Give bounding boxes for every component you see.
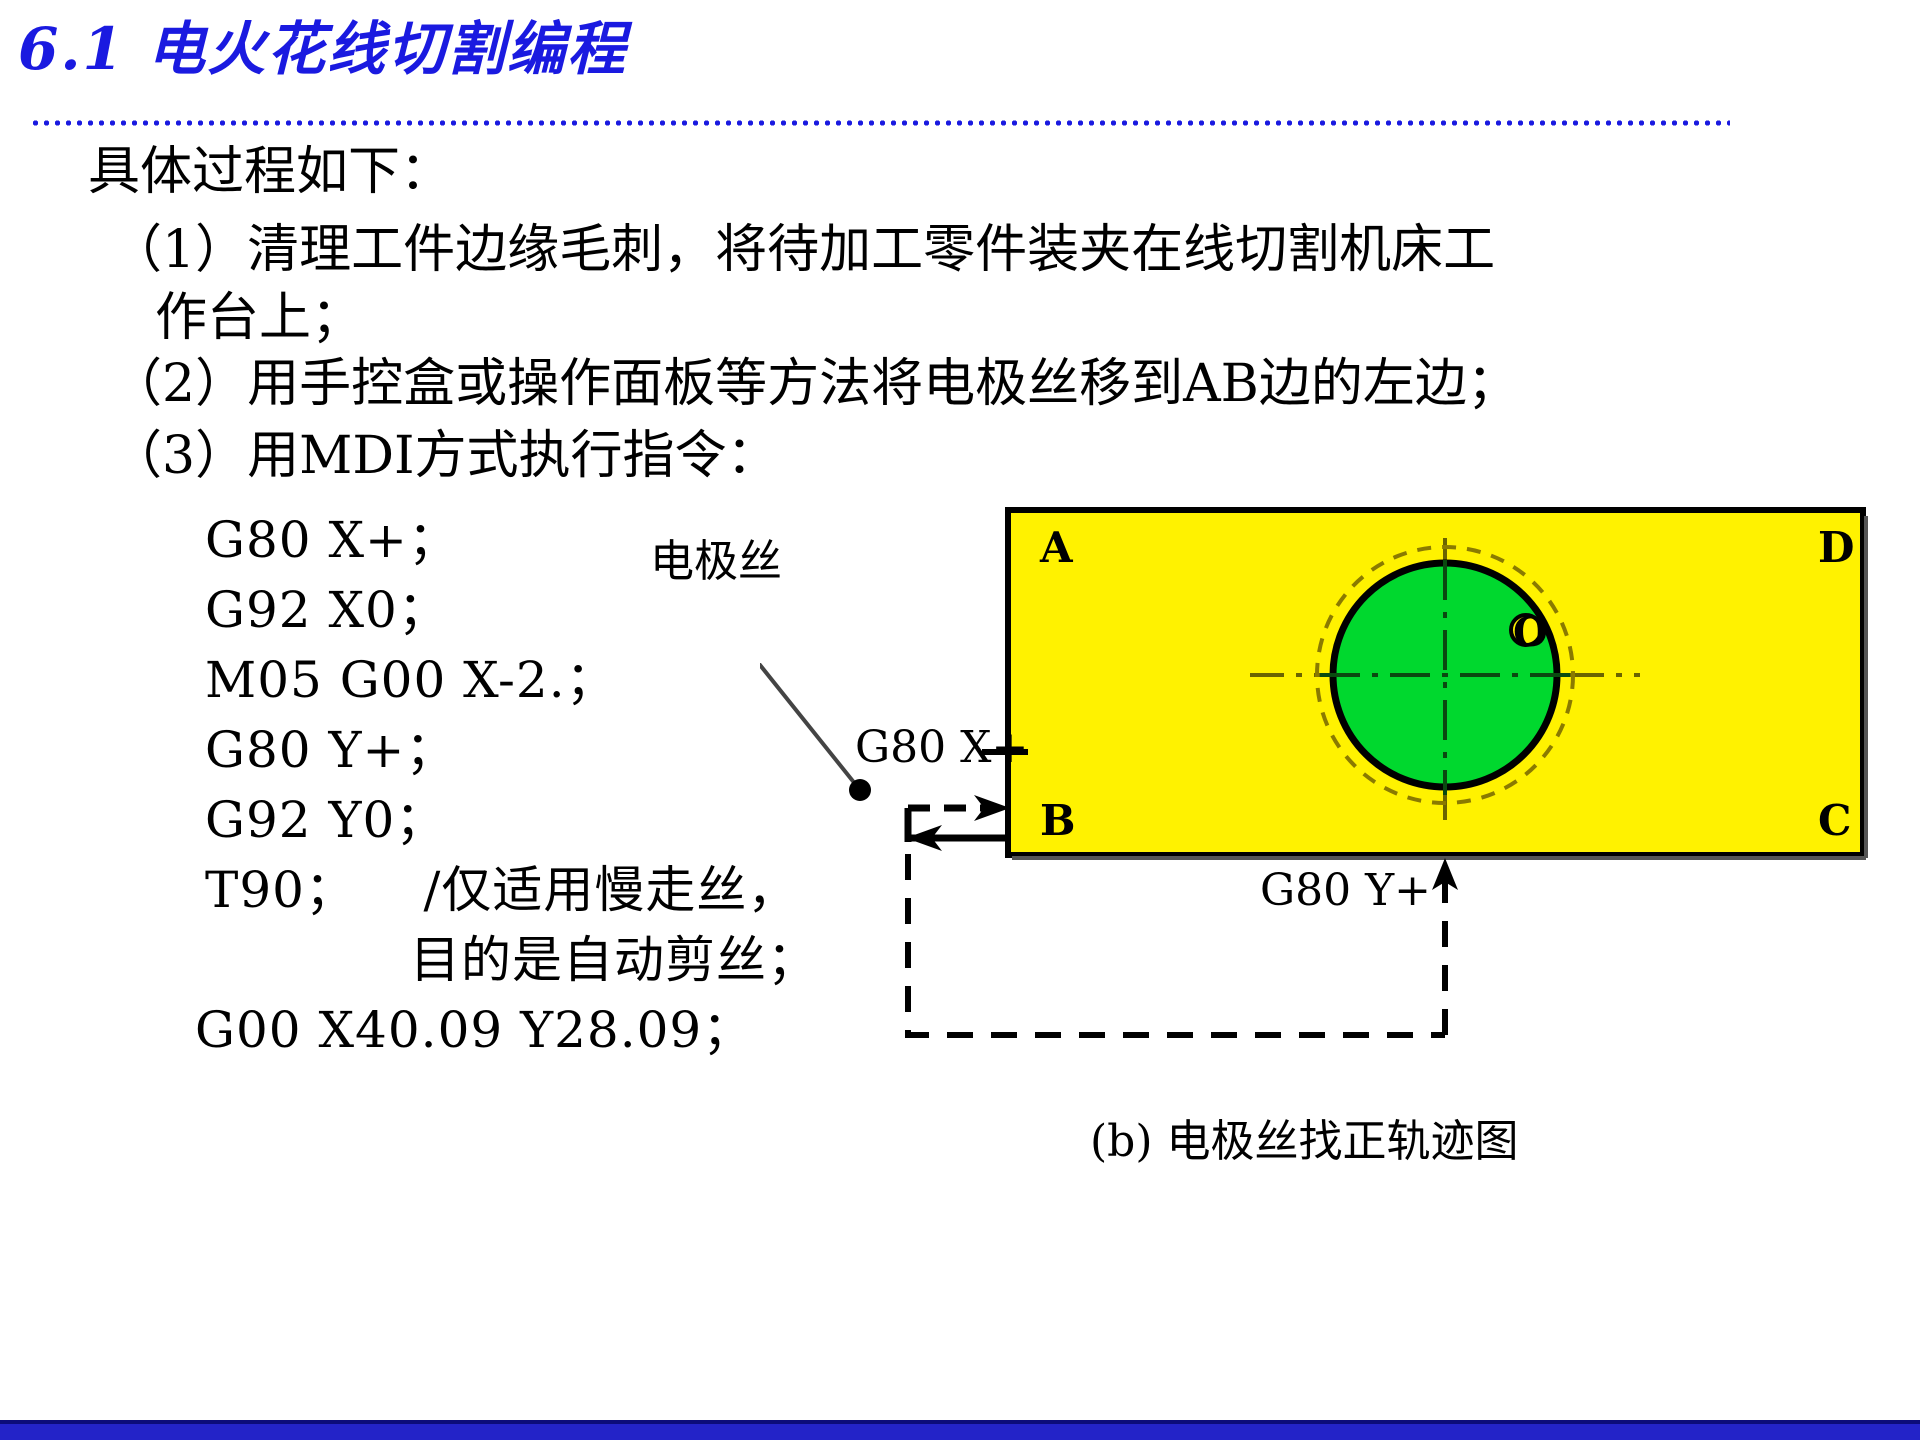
arrow-right-head xyxy=(974,795,1010,821)
code-line-8: G00 X40.09 Y28.09； xyxy=(195,990,753,1062)
g80-x-label: G80 X+ xyxy=(855,722,1028,773)
corner-label-d: D xyxy=(1818,523,1854,572)
corner-label-c: C xyxy=(1818,796,1851,845)
bottom-accent-bar xyxy=(0,1424,1920,1440)
corner-label-a: A xyxy=(1039,523,1074,572)
code-line-7: 目的是自动剪丝； xyxy=(410,920,818,992)
body-item-2: （2）用手控盒或操作面板等方法将电极丝移到AB边的左边； xyxy=(110,358,1519,410)
body-item-1-line-2: 作台上； xyxy=(155,292,363,344)
code-line-2: G92 X0； xyxy=(205,570,449,642)
corner-label-b: B xyxy=(1040,796,1076,845)
code-line-3: M05 G00 X-2.； xyxy=(205,640,617,712)
code-line-6: T90； /仅适用慢走丝， xyxy=(205,850,798,922)
body-item-3: （3）用MDI方式执行指令： xyxy=(110,430,779,482)
center-label-o: O xyxy=(1513,609,1548,656)
g80-y-label: G80 Y+ xyxy=(1260,865,1431,916)
wire-alignment-figure: A B C D O 电极丝 G80 X+ G80 Y+ xyxy=(760,490,1890,1050)
title-divider xyxy=(30,120,1730,126)
wire-label: 电极丝 xyxy=(650,525,782,589)
page-title: 6.1 电火花线切割编程 xyxy=(18,2,627,86)
wire-point-dot xyxy=(849,779,871,801)
code-line-1: G80 X+； xyxy=(205,500,459,572)
body-item-1-line-1: （1）清理工件边缘毛刺，将待加工零件装夹在线切割机床工 xyxy=(110,224,1495,276)
code-line-5: G92 Y0； xyxy=(205,780,446,852)
wire-leader-line xyxy=(760,665,860,790)
code-line-4: G80 Y+； xyxy=(205,710,456,782)
figure-caption: (b) 电极丝找正轨迹图 xyxy=(1090,1105,1518,1169)
body-lead: 具体过程如下： xyxy=(88,146,452,198)
